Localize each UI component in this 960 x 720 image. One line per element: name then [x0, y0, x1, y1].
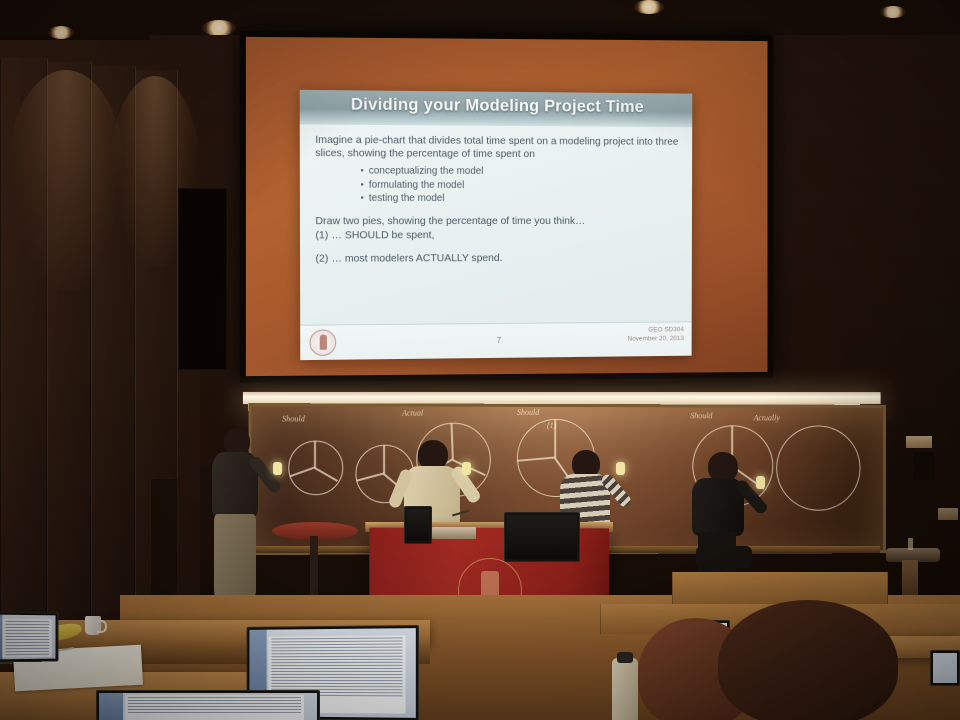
wall-phone-icon[interactable]	[914, 452, 934, 480]
laptop-left[interactable]	[0, 612, 62, 664]
podium-monitor	[504, 512, 580, 562]
slide-bullet: testing the model	[360, 192, 680, 206]
laptop-display[interactable]	[933, 653, 957, 683]
wall-sign	[938, 508, 958, 520]
chalk-in-hand	[273, 462, 282, 475]
chalk-label: (1)	[547, 421, 556, 430]
slide-intro-paragraph: Imagine a pie-chart that divides total t…	[315, 135, 680, 162]
chalk-pie-slice	[383, 446, 385, 474]
wall-light-pool	[6, 70, 126, 290]
podium-laptop	[432, 527, 476, 539]
chalk-in-hand	[756, 476, 765, 489]
chalk-in-hand	[462, 462, 471, 475]
coffee-cup	[85, 616, 101, 635]
slide-course-code: GEO SD304	[628, 326, 684, 335]
slide-prompt: Draw two pies, showing the percentage of…	[315, 216, 680, 229]
chalk-label: Actually	[754, 413, 780, 422]
document-body	[125, 695, 304, 720]
laptop-screen[interactable]	[0, 611, 58, 662]
slide-bullet-list: conceptualizing the model formulating th…	[360, 165, 680, 206]
bottle-cap	[617, 652, 633, 663]
slide-footer: 7 GEO SD304 November 20, 2013	[300, 321, 692, 360]
chalk-in-hand	[616, 462, 625, 475]
document-body	[3, 618, 52, 657]
slide-title: Dividing your Modeling Project Time	[300, 95, 693, 117]
slide-task-2: (2) … most modelers ACTUALLY spend.	[315, 252, 680, 266]
laptop-right[interactable]	[96, 690, 322, 720]
laptop-far-right[interactable]	[930, 650, 960, 686]
water-bottle	[612, 658, 638, 720]
slide-bullet: conceptualizing the model	[360, 165, 680, 179]
chalk-label: Actual	[402, 409, 423, 418]
podium-device	[404, 506, 432, 544]
app-sidebar	[99, 693, 123, 720]
chalk-label: Should	[690, 411, 712, 420]
laptop-screen[interactable]	[96, 690, 320, 720]
ceiling-spotlight	[880, 6, 906, 18]
laptop-display[interactable]	[0, 615, 56, 660]
slide-body: Imagine a pie-chart that divides total t…	[315, 135, 680, 267]
chalk-label: Should	[282, 414, 305, 423]
chalk-pie	[776, 425, 860, 510]
wall-sign	[906, 436, 932, 448]
office-chair	[696, 546, 752, 568]
audience-head-right	[718, 600, 898, 720]
ceiling-spotlight	[634, 0, 664, 14]
chalk-pie-slice	[314, 441, 316, 467]
legs	[214, 514, 256, 600]
monitor-screen	[507, 515, 577, 559]
sink-faucet-icon	[908, 538, 913, 550]
screen-surface: Dividing your Modeling Project Time Imag…	[246, 37, 768, 376]
wall-niche	[178, 188, 227, 370]
slide-bullet: formulating the model	[360, 178, 680, 192]
slide-date: November 20, 2013	[628, 335, 684, 344]
slide-meta: GEO SD304 November 20, 2013	[628, 326, 684, 343]
slide-task-block: Draw two pies, showing the percentage of…	[315, 216, 680, 266]
wall-niche	[150, 478, 178, 598]
projection-screen: Dividing your Modeling Project Time Imag…	[240, 31, 774, 383]
laptop-screen[interactable]	[930, 650, 960, 686]
chalk-label: Should	[517, 408, 539, 417]
laptop-display[interactable]	[99, 693, 317, 720]
lecture-hall-photo: Dividing your Modeling Project Time Imag…	[0, 0, 960, 720]
board-light-strip	[243, 392, 881, 404]
slide-task-1: (1) … SHOULD be spent,	[315, 230, 680, 243]
presentation-slide: Dividing your Modeling Project Time Imag…	[300, 90, 693, 360]
ceiling-spotlight	[48, 26, 74, 39]
device-screen	[407, 509, 429, 541]
student-at-board-left	[200, 428, 290, 618]
ceiling-spotlight	[202, 20, 236, 36]
